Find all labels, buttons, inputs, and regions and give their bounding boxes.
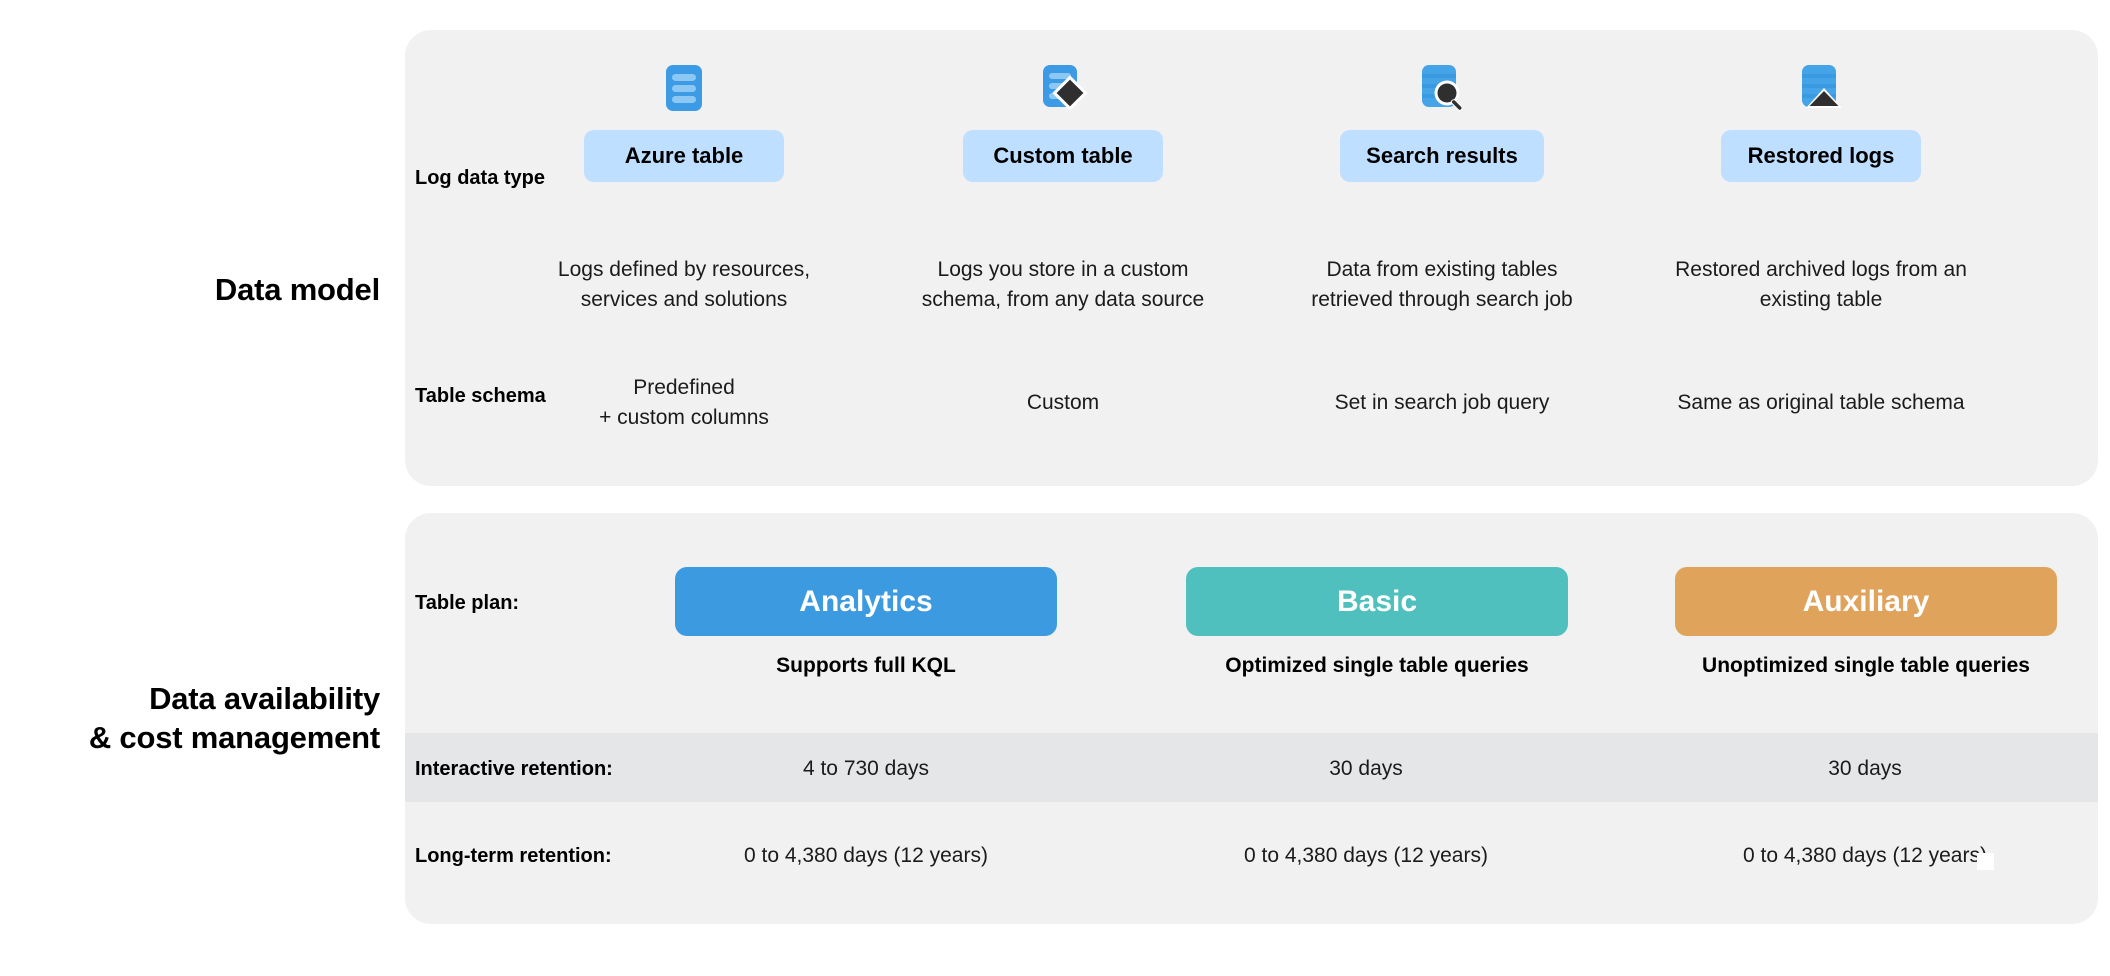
cell-long-term-retention-analytics: 0 to 4,380 days (12 years) <box>651 844 1081 868</box>
description-custom-table: Logs you store in a custom schema, from … <box>898 255 1228 315</box>
pill-custom-table[interactable]: Custom table <box>963 130 1163 182</box>
section-title-line-2: & cost management <box>0 719 380 758</box>
schema-azure-table: Predefined + custom columns <box>519 373 849 433</box>
row-label-long-term-retention: Long-term retention: <box>415 845 612 868</box>
section-title-data-availability: Data availability & cost management <box>0 680 380 758</box>
plan-pill-basic[interactable]: Basic <box>1186 567 1568 636</box>
description-line: Data from existing tables <box>1277 255 1607 285</box>
plan-column-basic: Basic Optimized single table queries <box>1186 567 1568 678</box>
pill-search-results[interactable]: Search results <box>1340 130 1544 182</box>
section-title-line-1: Data availability <box>0 680 380 719</box>
plan-pill-auxiliary[interactable]: Auxiliary <box>1675 567 2057 636</box>
description-line: schema, from any data source <box>898 285 1228 315</box>
restored-logs-icon <box>1793 60 1849 116</box>
schema-search-results: Set in search job query <box>1277 388 1607 418</box>
description-azure-table: Logs defined by resources, services and … <box>519 255 849 315</box>
row-label-log-data-type: Log data type <box>415 167 545 190</box>
azure-table-icon <box>656 60 712 116</box>
pill-restored-logs[interactable]: Restored logs <box>1721 130 1921 182</box>
cell-long-term-retention-auxiliary: 0 to 4,380 days (12 years) <box>1650 844 2080 868</box>
schema-restored-logs: Same as original table schema <box>1656 388 1986 418</box>
cell-interactive-retention-auxiliary: 30 days <box>1650 757 2080 781</box>
row-label-table-plan: Table plan: <box>415 592 519 615</box>
description-line: existing table <box>1656 285 1986 315</box>
data-model-column-azure-table: Azure table <box>534 60 834 182</box>
cell-long-term-retention-basic: 0 to 4,380 days (12 years) <box>1151 844 1581 868</box>
plan-column-analytics: Analytics Supports full KQL <box>675 567 1057 678</box>
schema-line: + custom columns <box>519 403 849 433</box>
white-artifact-square <box>1977 853 1994 870</box>
plan-subtitle-auxiliary: Unoptimized single table queries <box>1675 654 2057 678</box>
description-line: Logs you store in a custom <box>898 255 1228 285</box>
custom-table-icon <box>1035 60 1091 116</box>
cell-interactive-retention-analytics: 4 to 730 days <box>651 757 1081 781</box>
description-restored-logs: Restored archived logs from an existing … <box>1656 255 1986 315</box>
plan-subtitle-analytics: Supports full KQL <box>675 654 1057 678</box>
description-line: retrieved through search job <box>1277 285 1607 315</box>
plan-pill-analytics[interactable]: Analytics <box>675 567 1057 636</box>
cell-interactive-retention-basic: 30 days <box>1151 757 1581 781</box>
row-label-interactive-retention: Interactive retention: <box>415 758 613 781</box>
plan-subtitle-basic: Optimized single table queries <box>1186 654 1568 678</box>
plan-column-auxiliary: Auxiliary Unoptimized single table queri… <box>1675 567 2057 678</box>
data-model-column-restored-logs: Restored logs <box>1671 60 1971 182</box>
section-title-data-model: Data model <box>0 271 380 310</box>
data-model-column-search-results: Search results <box>1292 60 1592 182</box>
description-line: Logs defined by resources, <box>519 255 849 285</box>
data-model-column-custom-table: Custom table <box>913 60 1213 182</box>
search-results-icon <box>1414 60 1470 116</box>
schema-custom-table: Custom <box>898 388 1228 418</box>
schema-line: Predefined <box>519 373 849 403</box>
diagram-canvas: Data model Data availability & cost mana… <box>0 0 2110 976</box>
description-line: Restored archived logs from an <box>1656 255 1986 285</box>
description-line: services and solutions <box>519 285 849 315</box>
description-search-results: Data from existing tables retrieved thro… <box>1277 255 1607 315</box>
pill-azure-table[interactable]: Azure table <box>584 130 784 182</box>
